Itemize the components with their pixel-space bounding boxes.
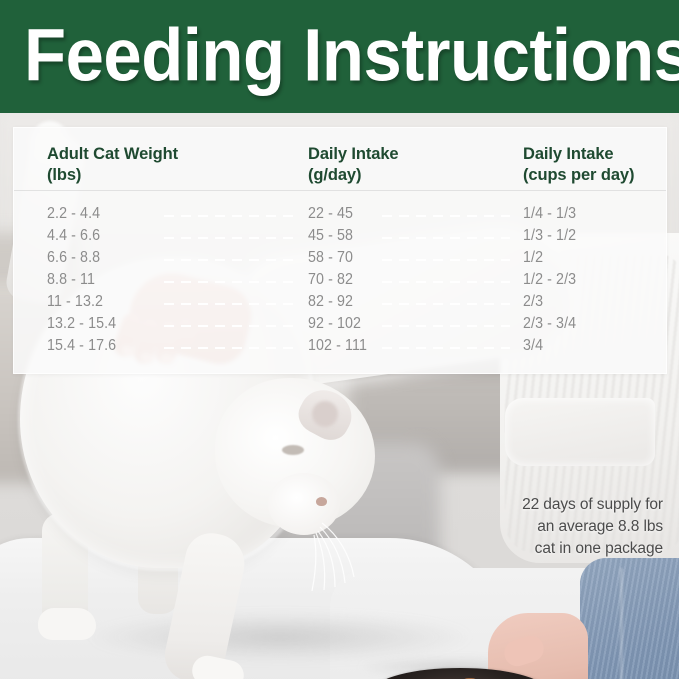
column-header-grams-title: Daily Intake xyxy=(308,145,399,163)
column-header-weight: Adult Cat Weight (lbs) xyxy=(47,144,178,186)
table-shadow xyxy=(90,613,470,661)
cell-grams: 92 - 102 xyxy=(308,315,361,333)
cell-weight: 15.4 - 17.6 xyxy=(47,337,116,355)
column-header-cups: Daily Intake (cups per day) xyxy=(523,144,634,186)
cell-weight: 2.2 - 4.4 xyxy=(47,205,100,223)
cat-food-bowl xyxy=(375,668,555,679)
cell-weight: 11 - 13.2 xyxy=(47,293,103,311)
jeans-texture xyxy=(580,558,679,679)
table-row: 6.6 - 8.8 58 - 70 1/2 xyxy=(14,249,666,271)
row-dash-leader xyxy=(164,237,294,239)
cell-grams: 82 - 92 xyxy=(308,293,353,311)
cat-eye xyxy=(282,445,304,455)
page-title: Feeding Instructions xyxy=(24,18,679,92)
cell-weight: 13.2 - 15.4 xyxy=(47,315,116,333)
table-row: 8.8 - 11 70 - 82 1/2 - 2/3 xyxy=(14,271,666,293)
cell-cups: 1/3 - 1/2 xyxy=(523,227,576,245)
column-header-weight-unit: (lbs) xyxy=(47,165,178,186)
row-dash-leader xyxy=(382,215,510,217)
column-header-grams: Daily Intake (g/day) xyxy=(308,144,399,186)
row-dash-leader xyxy=(164,215,294,217)
table-row: 11 - 13.2 82 - 92 2/3 xyxy=(14,293,666,315)
cell-cups: 1/2 xyxy=(523,249,543,267)
jeans-seam xyxy=(620,568,623,679)
cell-cups: 1/2 - 2/3 xyxy=(523,271,576,289)
cell-weight: 6.6 - 8.8 xyxy=(47,249,100,267)
table-row: 2.2 - 4.4 22 - 45 1/4 - 1/3 xyxy=(14,205,666,227)
row-dash-leader xyxy=(382,347,510,349)
column-header-cups-unit: (cups per day) xyxy=(523,165,634,186)
row-dash-leader xyxy=(164,259,294,261)
table-row: 15.4 - 17.6 102 - 111 3/4 xyxy=(14,337,666,359)
column-header-weight-title: Adult Cat Weight xyxy=(47,145,178,163)
supply-note-line-1: 22 days of supply for xyxy=(403,494,663,516)
row-dash-leader xyxy=(382,303,510,305)
row-dash-leader xyxy=(382,325,510,327)
column-header-cups-title: Daily Intake xyxy=(523,145,614,163)
row-dash-leader xyxy=(164,303,294,305)
table-row: 13.2 - 15.4 92 - 102 2/3 - 3/4 xyxy=(14,315,666,337)
cell-cups: 1/4 - 1/3 xyxy=(523,205,576,223)
feeding-chart-panel: Adult Cat Weight (lbs) Daily Intake (g/d… xyxy=(13,127,667,374)
cell-weight: 4.4 - 6.6 xyxy=(47,227,100,245)
feeding-chart-rows: 2.2 - 4.4 22 - 45 1/4 - 1/3 4.4 - 6.6 45… xyxy=(14,191,666,359)
cell-grams: 102 - 111 xyxy=(308,337,367,355)
supply-note: 22 days of supply for an average 8.8 lbs… xyxy=(403,494,663,560)
row-dash-leader xyxy=(382,237,510,239)
row-dash-leader xyxy=(164,347,294,349)
row-dash-leader xyxy=(164,281,294,283)
row-dash-leader xyxy=(382,281,510,283)
feeding-chart-header-row: Adult Cat Weight (lbs) Daily Intake (g/d… xyxy=(14,128,666,191)
cat-nose xyxy=(316,497,327,506)
cell-grams: 70 - 82 xyxy=(308,271,353,289)
row-dash-leader xyxy=(164,325,294,327)
sweater-cuff xyxy=(505,398,655,466)
cell-cups: 2/3 xyxy=(523,293,543,311)
cell-cups: 3/4 xyxy=(523,337,543,355)
header-banner: Feeding Instructions xyxy=(0,0,679,113)
cell-weight: 8.8 - 11 xyxy=(47,271,95,289)
supply-note-line-2: an average 8.8 lbs xyxy=(403,516,663,538)
cell-cups: 2/3 - 3/4 xyxy=(523,315,576,333)
supply-note-line-3: cat in one package xyxy=(403,538,663,560)
table-row: 4.4 - 6.6 45 - 58 1/3 - 1/2 xyxy=(14,227,666,249)
cat-hind-paw xyxy=(38,608,96,640)
cell-grams: 22 - 45 xyxy=(308,205,353,223)
column-header-grams-unit: (g/day) xyxy=(308,165,399,186)
cell-grams: 58 - 70 xyxy=(308,249,353,267)
cell-grams: 45 - 58 xyxy=(308,227,353,245)
cat-muzzle xyxy=(268,473,340,535)
row-dash-leader xyxy=(382,259,510,261)
feeding-instructions-page: Feeding Instructions xyxy=(0,0,679,679)
